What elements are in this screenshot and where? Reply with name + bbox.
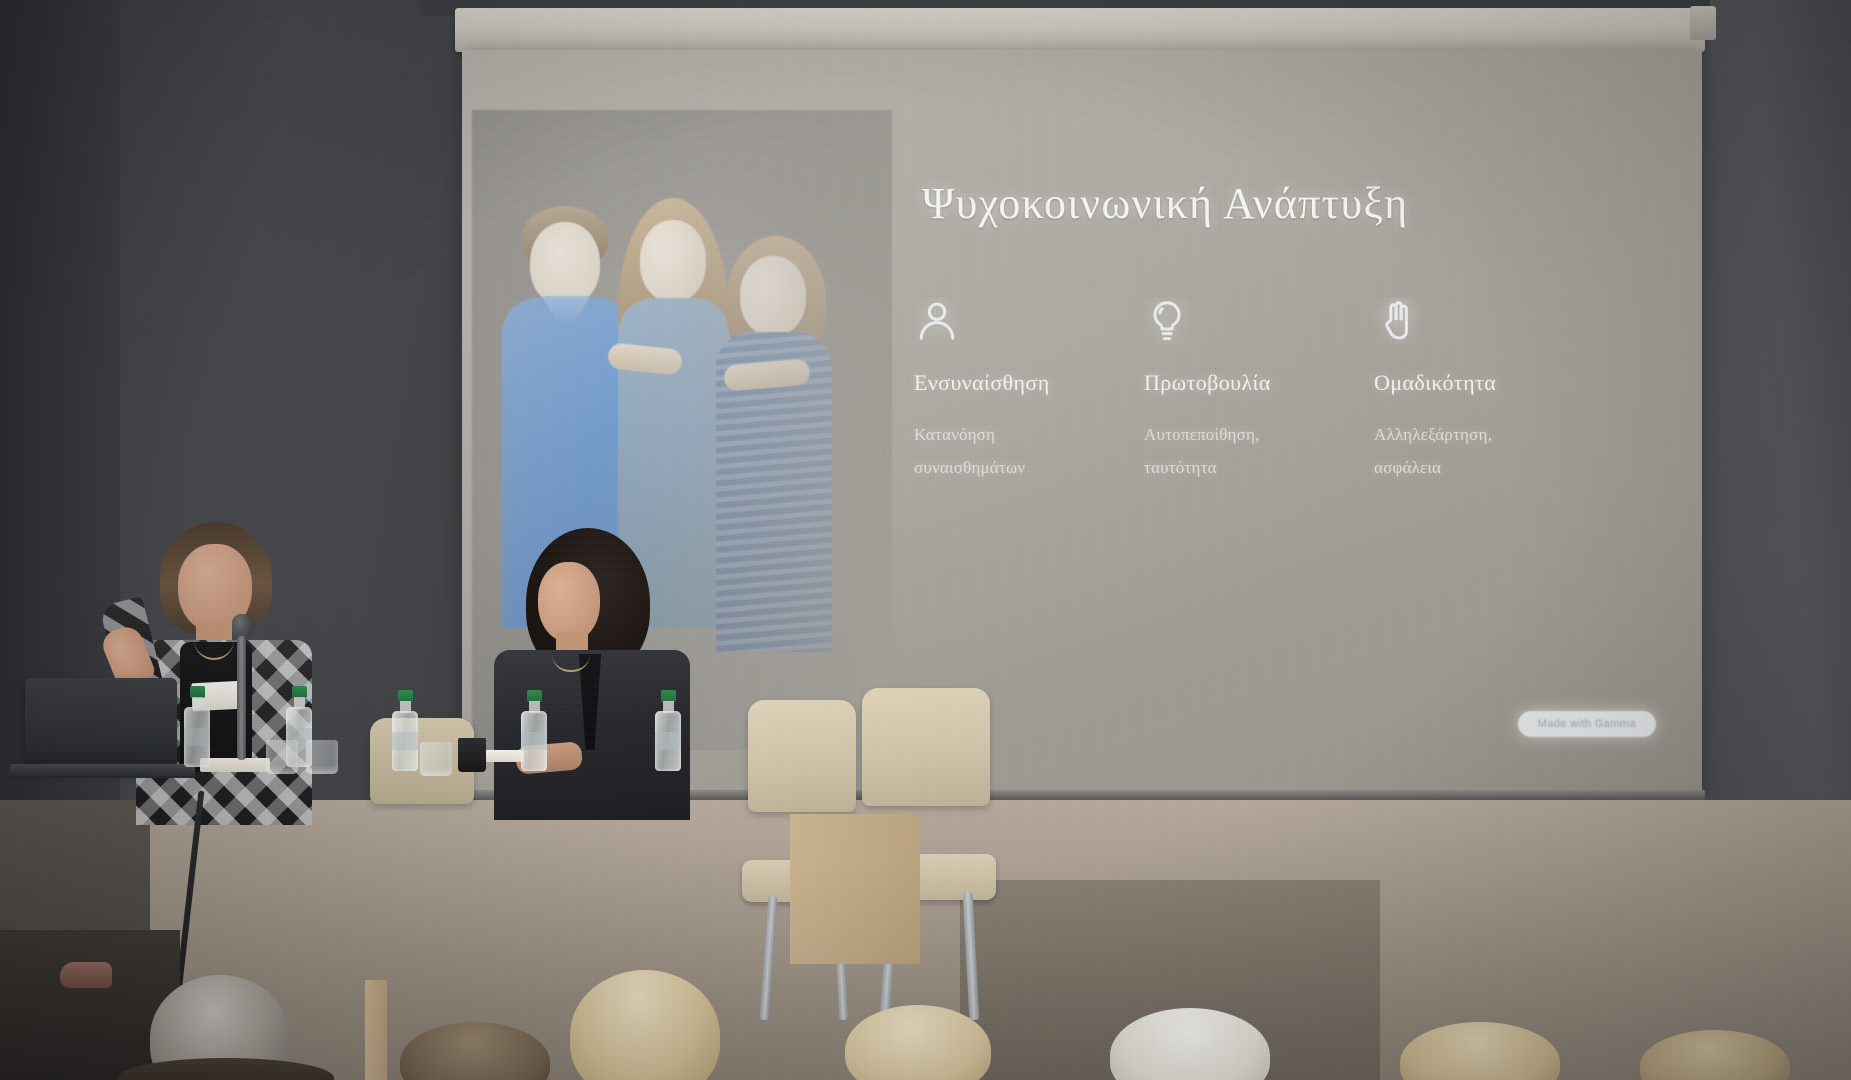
slide-column-teamwork-label: Ομαδικότητα [1374, 370, 1604, 396]
laptop-base [10, 764, 195, 778]
projector-screen-casing-end-cap [1690, 6, 1716, 40]
water-bottle-4-label [521, 732, 547, 750]
table-front-side-panel [790, 814, 920, 964]
slide-column-empathy-label: Ενσυναίσθηση [914, 370, 1144, 396]
slide-columns: Ενσυναίσθηση Κατανόηση συναισθημάτων [914, 298, 1674, 484]
speaker-right [500, 528, 690, 818]
speaker-right-head [538, 562, 600, 642]
slide-column-empathy: Ενσυναίσθηση Κατανόηση συναισθημάτων [914, 298, 1144, 484]
water-bottle-5-label [655, 732, 681, 750]
slide-column-empathy-desc: Κατανόηση συναισθημάτων [914, 418, 1144, 484]
slide-title: Ψυχοκοινωνική Ανάπτυξη [922, 178, 1662, 229]
person-icon [914, 298, 960, 344]
slide-column-initiative-desc: Αυτοπεποίθηση, ταυτότητα [1144, 418, 1374, 484]
shoe [60, 962, 112, 988]
slide-column-initiative-desc-line1: Αυτοπεποίθηση, [1144, 418, 1374, 451]
table-front-leg [365, 980, 387, 1080]
laptop-screen [25, 678, 177, 770]
slide-column-initiative-label: Πρωτοβουλία [1144, 370, 1374, 396]
microphone-stem [237, 636, 246, 760]
drinking-glass-1 [266, 740, 298, 774]
hand-icon [1374, 298, 1420, 344]
slide-column-teamwork-desc: Αλληλεξάρτηση, ασφάλεια [1374, 418, 1604, 484]
water-bottle-3-label [392, 732, 418, 750]
papers-left [200, 758, 270, 772]
coffee-cup [458, 738, 486, 772]
slide-column-initiative: Πρωτοβουλία Αυτοπεποίθηση, ταυτότητα [1144, 298, 1374, 484]
conference-photo-scene: Ψυχοκοινωνική Ανάπτυξη Ενσυναίσθηση Κατα… [0, 0, 1851, 1080]
slide-column-empathy-desc-line1: Κατανόηση [914, 418, 1144, 451]
slide-watermark-badge: Made with Gamma [1518, 711, 1656, 737]
drinking-glass-3 [420, 742, 452, 776]
chair-left-leg-1 [760, 896, 778, 1020]
slide-column-teamwork-desc-line1: Αλληλεξάρτηση, [1374, 418, 1604, 451]
water-bottle-1-label [184, 728, 210, 746]
projector-screen-casing [455, 8, 1705, 52]
slide-column-teamwork-desc-line2: ασφάλεια [1374, 451, 1604, 484]
slide-column-teamwork: Ομαδικότητα Αλληλεξάρτηση, ασφάλεια [1374, 298, 1604, 484]
slide-column-empathy-desc-line2: συναισθημάτων [914, 451, 1144, 484]
chair-right-backrest [862, 688, 990, 806]
chair-left-backrest [748, 700, 856, 812]
slide-column-initiative-desc-line2: ταυτότητα [1144, 451, 1374, 484]
drinking-glass-2 [306, 740, 338, 774]
lightbulb-icon [1144, 298, 1190, 344]
chair-right-leg-2 [963, 892, 980, 1020]
